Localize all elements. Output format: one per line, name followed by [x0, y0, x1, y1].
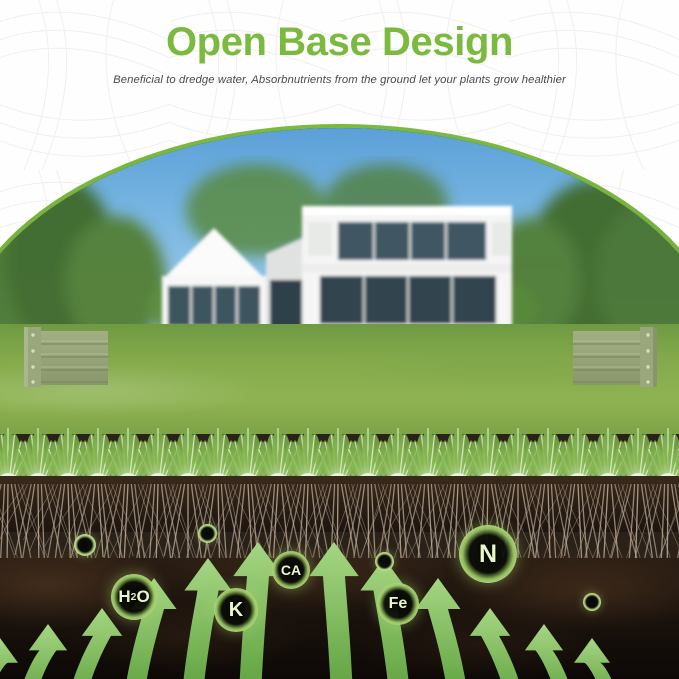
nutrient-badge-n: N [459, 525, 517, 583]
page-subtitle: Beneficial to dredge water, Absorbnutrie… [0, 65, 679, 86]
nutrient-label: K [229, 599, 243, 622]
nutrient-arrow [0, 638, 18, 679]
nutrient-label-tail: O [136, 587, 149, 607]
nutrient-arrow [525, 624, 583, 679]
nutrient-label: Fe [389, 595, 408, 613]
garden-bed-scene [0, 128, 679, 679]
nutrient-badge-ca: CA [272, 551, 310, 589]
nutrient-arrow [59, 608, 122, 679]
nutrient-arrow [574, 638, 626, 679]
nutrient-label: CA [281, 562, 301, 578]
nutrient-arrow [309, 542, 359, 679]
nutrient-label: H [118, 587, 130, 607]
nutrient-arrow [10, 624, 68, 679]
nutrient-badge-h2o: H2O [111, 574, 157, 620]
nutrient-arrow [470, 608, 533, 679]
nutrient-label: N [479, 540, 497, 569]
soil-particle-ring [74, 534, 96, 556]
nutrient-badge-k: K [214, 588, 258, 632]
header: Open Base Design Beneficial to dredge wa… [0, 0, 679, 112]
nutrient-arrow [416, 578, 475, 679]
page-title: Open Base Design [0, 0, 679, 65]
soil-particle-ring [198, 524, 217, 543]
soil-particle-ring [583, 593, 601, 611]
raised-bed-panel-right [573, 327, 665, 389]
nutrient-badge-fe: Fe [377, 583, 419, 625]
soil-particle-ring [375, 552, 394, 571]
raised-bed-panel-left [16, 327, 108, 389]
product-feature-image: Open Base Design Beneficial to dredge wa… [0, 0, 679, 679]
nutrient-flow-arrows [0, 128, 679, 679]
